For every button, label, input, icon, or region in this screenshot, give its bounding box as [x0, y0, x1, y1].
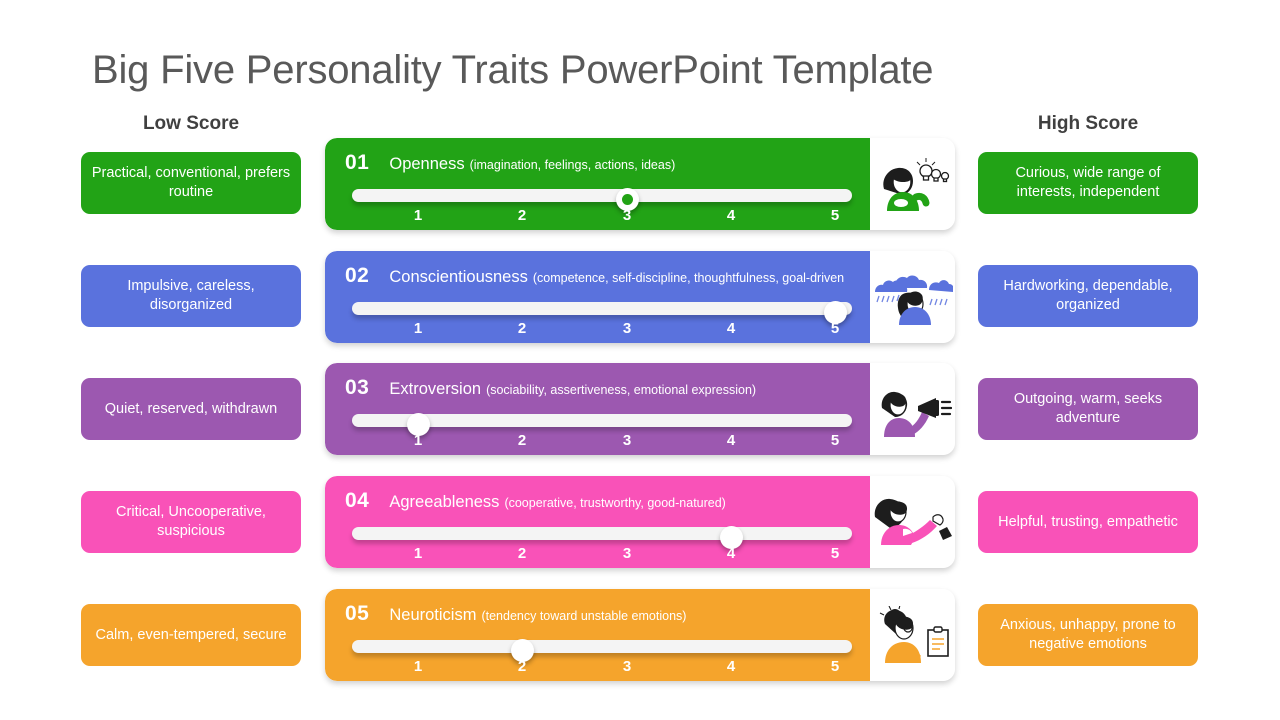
trait-row-body: 03Extroversion(sociability, assertivenes… — [325, 363, 870, 455]
high-score-card: Curious, wide range of interests, indepe… — [978, 152, 1198, 214]
high-score-header: High Score — [978, 113, 1198, 135]
low-score-card: Impulsive, careless, disorganized — [81, 265, 301, 327]
low-score-card: Practical, conventional, prefers routine — [81, 152, 301, 214]
trait-heading: 04Agreeableness(cooperative, trustworthy… — [345, 489, 726, 513]
slider-tick-label[interactable]: 4 — [718, 432, 744, 449]
low-score-card: Critical, Uncooperative, suspicious — [81, 491, 301, 553]
slider-tick-label[interactable]: 2 — [509, 320, 535, 337]
slider-thumb-core — [622, 194, 633, 205]
trait-description: (sociability, assertiveness, emotional e… — [486, 383, 756, 397]
slider-tick-label[interactable]: 2 — [509, 545, 535, 562]
trait-name: Openness — [389, 155, 464, 173]
high-score-card: Anxious, unhappy, prone to negative emot… — [978, 604, 1198, 666]
slider-tick-label[interactable]: 5 — [822, 545, 848, 562]
person-sitting-relaxed-icon — [870, 476, 955, 568]
trait-name: Extroversion — [389, 380, 481, 398]
slider-tick-label[interactable]: 1 — [405, 658, 431, 675]
trait-heading: 02Conscientiousness(competence, self-dis… — [345, 264, 844, 288]
trait-description: (cooperative, trustworthy, good-natured) — [504, 496, 725, 510]
page-title: Big Five Personality Traits PowerPoint T… — [92, 48, 933, 93]
trait-name: Neuroticism — [389, 606, 476, 624]
slider-thumb-core — [517, 645, 528, 656]
trait-row: 03Extroversion(sociability, assertivenes… — [325, 363, 955, 455]
trait-row-body: 04Agreeableness(cooperative, trustworthy… — [325, 476, 870, 568]
slider-tick-label[interactable]: 4 — [718, 207, 744, 224]
trait-row-body: 05Neuroticism(tendency toward unstable e… — [325, 589, 870, 681]
trait-row-body: 02Conscientiousness(competence, self-dis… — [325, 251, 870, 343]
slide-canvas: Big Five Personality Traits PowerPoint T… — [0, 0, 1280, 720]
slider-track[interactable] — [352, 640, 852, 653]
trait-row: 05Neuroticism(tendency toward unstable e… — [325, 589, 955, 681]
trait-name: Agreeableness — [389, 493, 499, 511]
high-score-card: Helpful, trusting, empathetic — [978, 491, 1198, 553]
slider-tick-label[interactable]: 4 — [718, 658, 744, 675]
slider-track[interactable] — [352, 414, 852, 427]
trait-number: 04 — [345, 489, 369, 512]
trait-description: (competence, self-discipline, thoughtful… — [533, 271, 844, 285]
slider-tick-label[interactable]: 3 — [614, 432, 640, 449]
slider-thumb-core — [413, 419, 424, 430]
trait-row-body: 01Openness(imagination, feelings, action… — [325, 138, 870, 230]
high-score-card: Outgoing, warm, seeks adventure — [978, 378, 1198, 440]
low-score-card: Quiet, reserved, withdrawn — [81, 378, 301, 440]
slider-tick-label[interactable]: 4 — [718, 545, 744, 562]
slider-tick-label[interactable]: 5 — [822, 320, 848, 337]
slider-track[interactable] — [352, 189, 852, 202]
trait-row: 04Agreeableness(cooperative, trustworthy… — [325, 476, 955, 568]
score-slider[interactable]: 12345 — [352, 521, 852, 561]
trait-heading: 01Openness(imagination, feelings, action… — [345, 151, 675, 175]
slider-tick-label[interactable]: 1 — [405, 545, 431, 562]
trait-description: (imagination, feelings, actions, ideas) — [470, 158, 676, 172]
score-slider[interactable]: 12345 — [352, 408, 852, 448]
slider-tick-label[interactable]: 5 — [822, 432, 848, 449]
slider-tick-label[interactable]: 1 — [405, 207, 431, 224]
trait-heading: 03Extroversion(sociability, assertivenes… — [345, 376, 756, 400]
slider-tick-label[interactable]: 1 — [405, 320, 431, 337]
slider-tick-label[interactable]: 5 — [822, 207, 848, 224]
slider-tick-label[interactable]: 2 — [509, 207, 535, 224]
slider-tick-label[interactable]: 4 — [718, 320, 744, 337]
score-slider[interactable]: 12345 — [352, 634, 852, 674]
trait-number: 05 — [345, 602, 369, 625]
slider-tick-labels: 12345 — [352, 207, 852, 227]
slider-tick-label[interactable]: 2 — [509, 658, 535, 675]
person-worried-clipboard-icon — [870, 589, 955, 681]
score-slider[interactable]: 12345 — [352, 296, 852, 336]
slider-tick-label[interactable]: 2 — [509, 432, 535, 449]
slider-tick-label[interactable]: 3 — [614, 207, 640, 224]
slider-tick-labels: 12345 — [352, 320, 852, 340]
trait-number: 01 — [345, 151, 369, 174]
trait-row: 02Conscientiousness(competence, self-dis… — [325, 251, 955, 343]
high-score-card: Hardworking, dependable, organized — [978, 265, 1198, 327]
slider-tick-label[interactable]: 1 — [405, 432, 431, 449]
trait-name: Conscientiousness — [389, 268, 528, 286]
slider-tick-label[interactable]: 3 — [614, 658, 640, 675]
trait-description: (tendency toward unstable emotions) — [481, 609, 686, 623]
trait-heading: 05Neuroticism(tendency toward unstable e… — [345, 602, 686, 626]
slider-thumb-core — [726, 532, 737, 543]
slider-tick-label[interactable]: 5 — [822, 658, 848, 675]
trait-row: 01Openness(imagination, feelings, action… — [325, 138, 955, 230]
score-slider[interactable]: 12345 — [352, 183, 852, 223]
slider-tick-labels: 12345 — [352, 545, 852, 565]
person-rain-clouds-icon — [870, 251, 955, 343]
person-megaphone-icon — [870, 363, 955, 455]
slider-tick-label[interactable]: 3 — [614, 545, 640, 562]
slider-thumb-core — [830, 307, 841, 318]
slider-tick-labels: 12345 — [352, 432, 852, 452]
trait-number: 03 — [345, 376, 369, 399]
trait-number: 02 — [345, 264, 369, 287]
slider-track[interactable] — [352, 527, 852, 540]
slider-tick-label[interactable]: 3 — [614, 320, 640, 337]
slider-track[interactable] — [352, 302, 852, 315]
low-score-card: Calm, even-tempered, secure — [81, 604, 301, 666]
low-score-header: Low Score — [81, 113, 301, 135]
slider-tick-labels: 12345 — [352, 658, 852, 678]
person-lightbulb-ideas-icon — [870, 138, 955, 230]
